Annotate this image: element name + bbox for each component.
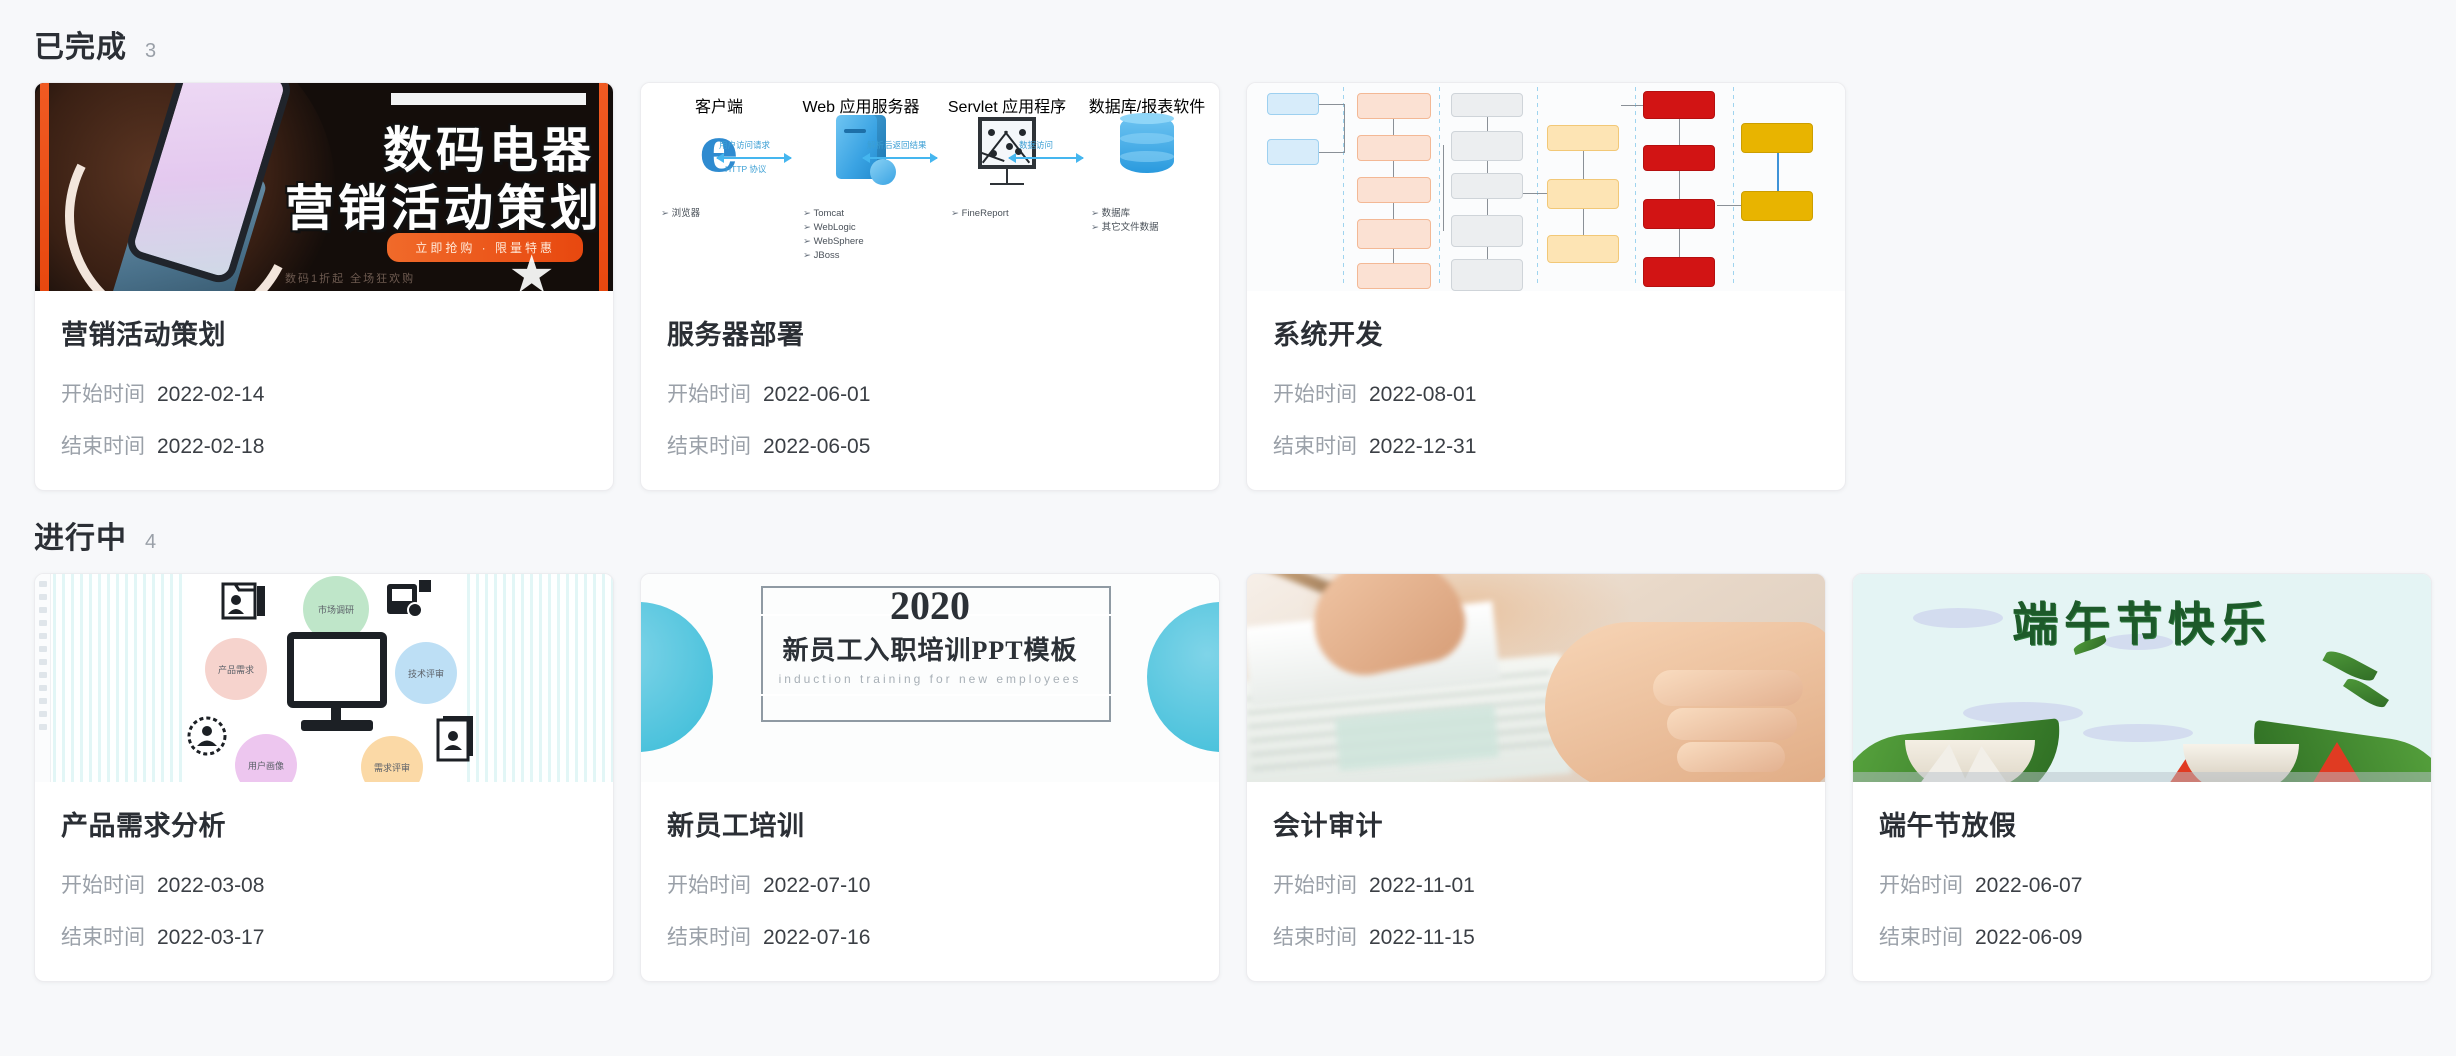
section-header-completed: 已完成 3 bbox=[34, 0, 2422, 82]
task-card[interactable]: 端午节快乐 端午节放假 开始时间2022-06-07 bbox=[1852, 573, 2432, 982]
task-thumbnail-marketing-poster: 数码电器 营销活动策划 立即抢购 · 限量特惠 数码1折起 全场狂欢购 ★ bbox=[35, 83, 613, 291]
diagram-arrow bbox=[1009, 157, 1083, 159]
start-value: 2022-06-07 bbox=[1975, 874, 2082, 897]
end-label: 结束时间 bbox=[667, 435, 751, 458]
task-thumbnail-dragon-boat: 端午节快乐 bbox=[1853, 574, 2431, 782]
flow-connector bbox=[1679, 119, 1680, 145]
start-label: 开始时间 bbox=[61, 874, 145, 897]
flow-connector bbox=[1319, 152, 1345, 153]
task-start-row: 开始时间2022-07-10 bbox=[667, 869, 1193, 899]
task-card[interactable]: 数码电器 营销活动策划 立即抢购 · 限量特惠 数码1折起 全场狂欢购 ★ 营销… bbox=[34, 82, 614, 491]
flow-node bbox=[1267, 93, 1319, 115]
flow-node bbox=[1357, 135, 1431, 161]
flow-lane-divider bbox=[1635, 87, 1636, 287]
end-value: 2022-07-16 bbox=[763, 926, 870, 949]
flow-node bbox=[1451, 259, 1523, 291]
flow-connector bbox=[1319, 104, 1345, 105]
section-header-in-progress: 进行中 4 bbox=[34, 491, 2422, 573]
diagram-arrow-label: 用户访问请求 bbox=[719, 139, 770, 151]
end-value: 2022-06-09 bbox=[1975, 926, 2082, 949]
task-card-body: 系统开发 开始时间2022-08-01 结束时间2022-12-31 bbox=[1247, 291, 1845, 490]
flow-node bbox=[1451, 131, 1523, 161]
task-card[interactable]: 会计审计 开始时间2022-11-01 结束时间2022-11-15 bbox=[1246, 573, 1826, 982]
task-start-row: 开始时间2022-08-01 bbox=[1273, 378, 1819, 408]
flow-connector bbox=[1777, 153, 1779, 191]
end-label: 结束时间 bbox=[61, 435, 145, 458]
end-label: 结束时间 bbox=[1273, 926, 1357, 949]
finger bbox=[1667, 708, 1797, 740]
task-end-row: 结束时间2022-06-09 bbox=[1879, 921, 2405, 951]
star-icon: ★ bbox=[508, 245, 555, 291]
diagram-column-items: 数据库 其它文件数据 bbox=[1081, 207, 1159, 235]
end-value: 2022-12-31 bbox=[1369, 435, 1476, 458]
flow-connector bbox=[1393, 203, 1394, 219]
start-value: 2022-06-01 bbox=[763, 383, 870, 406]
diagram-column-items: 浏览器 bbox=[651, 207, 700, 221]
task-start-row: 开始时间2022-11-01 bbox=[1273, 869, 1799, 899]
task-card-body: 营销活动策划 开始时间2022-02-14 结束时间2022-02-18 bbox=[35, 291, 613, 490]
flow-connector bbox=[1487, 247, 1488, 259]
monitor-icon bbox=[287, 632, 387, 708]
task-start-row: 开始时间2022-06-01 bbox=[667, 378, 1193, 408]
task-end-row: 结束时间2022-07-16 bbox=[667, 921, 1193, 951]
task-card[interactable]: 客户端 Web 应用服务器 Servlet 应用程序 数据库/报表软件 e bbox=[640, 82, 1220, 491]
cover-headline: 新员工入职培训PPT模板 bbox=[641, 630, 1219, 667]
section-count: 4 bbox=[145, 531, 156, 554]
flow-node bbox=[1643, 199, 1715, 229]
poster-accent-bar-left bbox=[40, 83, 49, 291]
card-grid-in-progress: 市场调研 产品需求 技术评审 用户画像 需求评审 bbox=[34, 573, 2422, 982]
festival-headline: 端午节快乐 bbox=[1853, 588, 2431, 654]
cloud-decoration bbox=[1963, 702, 2083, 724]
flow-node bbox=[1451, 215, 1523, 247]
flow-connector bbox=[1393, 249, 1394, 263]
flow-node bbox=[1357, 263, 1431, 289]
task-title: 服务器部署 bbox=[667, 313, 1193, 352]
monitor-base bbox=[301, 720, 373, 731]
task-end-row: 结束时间2022-12-31 bbox=[1273, 430, 1819, 460]
task-end-row: 结束时间2022-11-15 bbox=[1273, 921, 1799, 951]
start-label: 开始时间 bbox=[61, 383, 145, 406]
flow-connector bbox=[1679, 171, 1680, 199]
flow-connector bbox=[1344, 104, 1345, 152]
foreground-band bbox=[1853, 772, 2431, 782]
task-card[interactable]: 2020 新员工入职培训PPT模板 induction training for… bbox=[640, 573, 1220, 982]
flow-connector bbox=[1487, 117, 1488, 131]
poster-top-rule-split bbox=[497, 93, 591, 105]
section-title: 已完成 bbox=[34, 22, 127, 66]
task-title: 端午节放假 bbox=[1879, 804, 2405, 843]
flow-node bbox=[1643, 145, 1715, 171]
diagram-arrow-label: 解析后返回结果 bbox=[867, 139, 927, 151]
task-card-body: 产品需求分析 开始时间2022-03-08 结束时间2022-03-17 bbox=[35, 782, 613, 981]
document-stack-icon bbox=[433, 714, 481, 762]
diagram-column-items: FineReport bbox=[941, 207, 1009, 221]
task-card-body: 端午节放假 开始时间2022-06-07 结束时间2022-06-09 bbox=[1853, 782, 2431, 981]
topic-bubble: 产品需求 bbox=[205, 638, 267, 700]
flow-node bbox=[1741, 123, 1813, 153]
flow-node bbox=[1547, 235, 1619, 263]
end-label: 结束时间 bbox=[61, 926, 145, 949]
flow-node bbox=[1451, 93, 1523, 117]
end-value: 2022-02-18 bbox=[157, 435, 264, 458]
topic-bubble: 技术评审 bbox=[395, 642, 457, 704]
flow-connector bbox=[1717, 205, 1741, 206]
flow-node bbox=[1741, 191, 1813, 221]
team-circle-icon bbox=[187, 716, 227, 756]
monitor-stand bbox=[331, 708, 341, 720]
start-value: 2022-11-01 bbox=[1369, 874, 1475, 897]
flow-lane-divider bbox=[1733, 87, 1734, 287]
flow-node bbox=[1547, 125, 1619, 151]
flow-connector bbox=[1523, 193, 1547, 194]
card-grid-completed: 数码电器 营销活动策划 立即抢购 · 限量特惠 数码1折起 全场狂欢购 ★ 营销… bbox=[34, 82, 2422, 491]
task-thumbnail-ppt-cover: 2020 新员工入职培训PPT模板 induction training for… bbox=[641, 574, 1219, 782]
flow-node bbox=[1357, 219, 1431, 249]
task-card[interactable]: 市场调研 产品需求 技术评审 用户画像 需求评审 bbox=[34, 573, 614, 982]
poster-small-text: 数码1折起 全场狂欢购 bbox=[285, 272, 415, 287]
task-card-body: 会计审计 开始时间2022-11-01 结束时间2022-11-15 bbox=[1247, 782, 1825, 981]
flow-connector bbox=[1393, 119, 1394, 135]
flow-connector bbox=[1679, 229, 1680, 257]
task-start-row: 开始时间2022-06-07 bbox=[1879, 869, 2405, 899]
end-label: 结束时间 bbox=[1879, 926, 1963, 949]
task-thumbnail-architecture-diagram: 客户端 Web 应用服务器 Servlet 应用程序 数据库/报表软件 e bbox=[641, 83, 1219, 291]
start-label: 开始时间 bbox=[667, 874, 751, 897]
flow-connector bbox=[1487, 161, 1488, 173]
tool-sidebar bbox=[35, 574, 51, 782]
settings-screen-icon bbox=[387, 580, 433, 622]
task-card-body: 新员工培训 开始时间2022-07-10 结束时间2022-07-16 bbox=[641, 782, 1219, 981]
section-count: 3 bbox=[145, 40, 156, 63]
section-title: 进行中 bbox=[34, 513, 127, 557]
diagram-column-items: Tomcat WebLogic WebSphere JBoss bbox=[793, 207, 864, 263]
task-start-row: 开始时间2022-02-14 bbox=[61, 378, 587, 408]
diagram-arrow bbox=[717, 157, 791, 159]
flow-connector bbox=[1487, 199, 1488, 215]
task-end-row: 结束时间2022-06-05 bbox=[667, 430, 1193, 460]
flow-node bbox=[1357, 177, 1431, 203]
servlet-monitor-icon bbox=[937, 117, 1077, 185]
end-label: 结束时间 bbox=[1273, 435, 1357, 458]
start-label: 开始时间 bbox=[667, 383, 751, 406]
task-title: 营销活动策划 bbox=[61, 313, 587, 352]
end-value: 2022-03-17 bbox=[157, 926, 264, 949]
start-label: 开始时间 bbox=[1879, 874, 1963, 897]
folder-user-icon bbox=[221, 578, 267, 622]
task-end-row: 结束时间2022-03-17 bbox=[61, 921, 587, 951]
task-title: 会计审计 bbox=[1273, 804, 1799, 843]
flow-node bbox=[1451, 173, 1523, 199]
task-card-body: 服务器部署 开始时间2022-06-01 结束时间2022-06-05 bbox=[641, 291, 1219, 490]
task-title: 产品需求分析 bbox=[61, 804, 587, 843]
flow-connector bbox=[1393, 161, 1394, 177]
poster-headline-line2: 营销活动策划 bbox=[285, 169, 603, 240]
task-end-row: 结束时间2022-02-18 bbox=[61, 430, 587, 460]
task-title: 系统开发 bbox=[1273, 313, 1819, 352]
cover-year: 2020 bbox=[641, 582, 1219, 629]
flow-node bbox=[1357, 93, 1431, 119]
diagram-column-heading: Web 应用服务器 bbox=[791, 93, 931, 117]
finger bbox=[1653, 670, 1803, 706]
flow-node bbox=[1643, 257, 1715, 287]
flow-node bbox=[1643, 91, 1715, 119]
diagram-column-heading: Servlet 应用程序 bbox=[937, 93, 1077, 117]
task-title: 新员工培训 bbox=[667, 804, 1193, 843]
task-board: 已完成 3 数码电器 营销活动策划 立即抢购 · 限量特惠 数码1折起 全场狂欢… bbox=[0, 0, 2456, 982]
flow-connector bbox=[1443, 145, 1444, 231]
start-value: 2022-07-10 bbox=[763, 874, 870, 897]
flow-node bbox=[1547, 179, 1619, 209]
frame-band-bottom bbox=[761, 694, 1111, 696]
start-value: 2022-02-14 bbox=[157, 383, 264, 406]
flow-connector bbox=[1621, 105, 1643, 106]
finger bbox=[1677, 742, 1785, 772]
flow-connector bbox=[1583, 151, 1584, 179]
diagram-arrow bbox=[863, 157, 937, 159]
start-value: 2022-03-08 bbox=[157, 874, 264, 897]
start-value: 2022-08-01 bbox=[1369, 383, 1476, 406]
task-start-row: 开始时间2022-03-08 bbox=[61, 869, 587, 899]
end-value: 2022-11-15 bbox=[1369, 926, 1475, 949]
flow-lane-divider bbox=[1439, 87, 1440, 287]
flow-lane-divider bbox=[1537, 87, 1538, 287]
diagram-arrow-label: HTTP 协议 bbox=[725, 163, 766, 175]
end-value: 2022-06-05 bbox=[763, 435, 870, 458]
task-thumbnail-requirement-icons: 市场调研 产品需求 技术评审 用户画像 需求评审 bbox=[35, 574, 613, 782]
start-label: 开始时间 bbox=[1273, 874, 1357, 897]
cover-subtitle: induction training for new employees bbox=[641, 672, 1219, 686]
task-thumbnail-audit-photo bbox=[1247, 574, 1825, 782]
task-card[interactable]: 系统开发 开始时间2022-08-01 结束时间2022-12-31 bbox=[1246, 82, 1846, 491]
diagram-arrow-label: 数据访问 bbox=[1019, 139, 1053, 151]
database-icon bbox=[1077, 115, 1217, 173]
task-thumbnail-flowchart bbox=[1247, 83, 1845, 291]
end-label: 结束时间 bbox=[667, 926, 751, 949]
flow-connector bbox=[1583, 209, 1584, 235]
start-label: 开始时间 bbox=[1273, 383, 1357, 406]
flow-node bbox=[1267, 139, 1319, 165]
cloud-decoration bbox=[2083, 724, 2193, 742]
